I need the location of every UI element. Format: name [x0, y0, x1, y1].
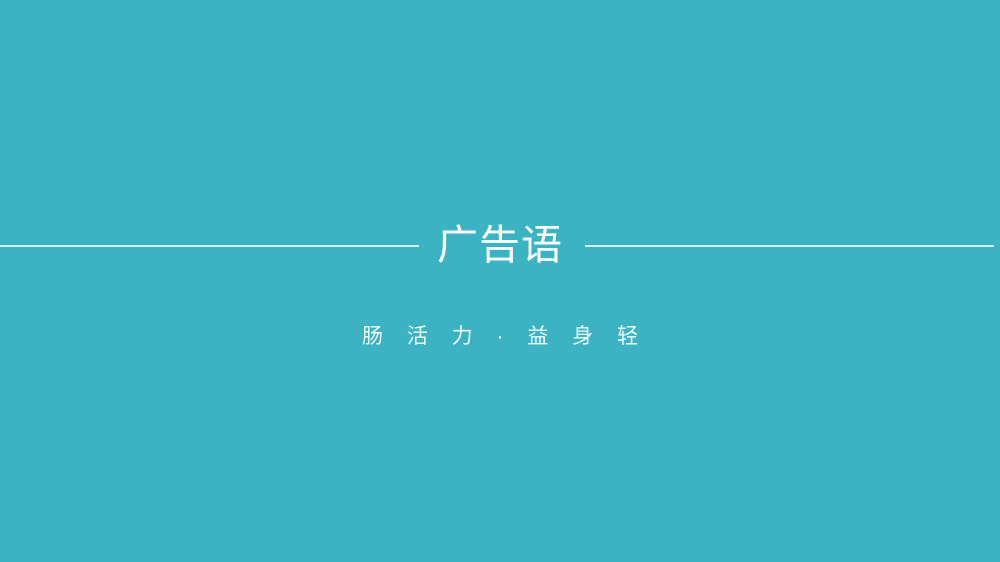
page-subtitle: 肠 活 力 · 益 身 轻: [0, 320, 1000, 354]
heading-block: 广告语 肠 活 力 · 益 身 轻: [0, 0, 1000, 562]
divider-line-left: [0, 245, 419, 247]
slide-canvas: 广告语 肠 活 力 · 益 身 轻: [0, 0, 1000, 562]
divider-line-right: [585, 245, 994, 247]
